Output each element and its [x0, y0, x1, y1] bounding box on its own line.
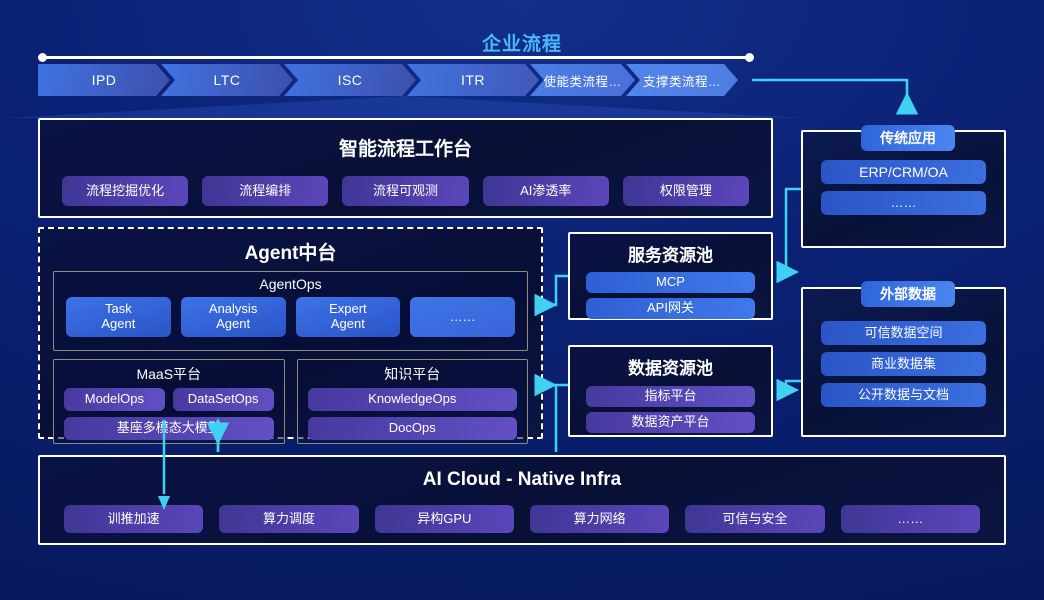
- connector-legacy-to-service-pool: [779, 189, 801, 272]
- agent-label-line1: Analysis: [209, 302, 257, 317]
- external-data-item-label: 可信数据空间: [864, 326, 942, 341]
- legacy-apps-title: 传统应用: [880, 128, 936, 148]
- process-step-supporting[interactable]: 支撑类流程…: [626, 64, 738, 96]
- maas-item-label: DataSetOps: [188, 392, 259, 407]
- service-pool-api-gateway[interactable]: API网关: [586, 298, 755, 319]
- workbench-item-process-observability[interactable]: 流程可观测: [342, 176, 468, 206]
- maas-title: MaaS平台: [54, 364, 284, 384]
- legacy-apps-item-label: ERP/CRM/OA: [859, 164, 948, 180]
- agent-label-line1: Task: [105, 302, 132, 317]
- process-step-ipd[interactable]: IPD: [38, 64, 170, 96]
- external-data-title: 外部数据: [880, 284, 936, 304]
- infra-item-heterogeneous-gpu[interactable]: 异构GPU: [375, 505, 514, 533]
- infra-item-label: ……: [897, 512, 923, 527]
- diagram-canvas: 企业流程 IPD LTC ISC ITR 使能类流程… 支撑类流程… 智能流程工…: [0, 0, 1044, 600]
- workbench-item-process-orchestration[interactable]: 流程编排: [202, 176, 328, 206]
- agent-analysis[interactable]: Analysis Agent: [181, 297, 286, 337]
- knowledge-knowledgeops[interactable]: KnowledgeOps: [308, 388, 518, 411]
- page-title: 企业流程: [0, 29, 1044, 56]
- external-data-trusted-space[interactable]: 可信数据空间: [821, 321, 986, 345]
- agent-label-line2: Agent: [216, 317, 250, 332]
- infra-item-label: 可信与安全: [722, 512, 787, 527]
- service-pool-panel: 服务资源池 MCP API网关: [568, 232, 773, 320]
- infra-item-more[interactable]: ……: [841, 505, 980, 533]
- external-data-item-label: 公开数据与文档: [858, 388, 949, 403]
- workbench-item-process-mining[interactable]: 流程挖掘优化: [62, 176, 188, 206]
- data-pool-item-label: 指标平台: [644, 389, 696, 404]
- knowledge-item-label: DocOps: [389, 421, 436, 436]
- data-pool-item-label: 数据资产平台: [631, 415, 709, 430]
- process-step-label: 使能类流程…: [543, 71, 621, 90]
- agentops-box: AgentOps Task Agent Analysis Agent Exper…: [53, 271, 528, 351]
- external-data-public-docs[interactable]: 公开数据与文档: [821, 383, 986, 407]
- legacy-apps-title-chip: 传统应用: [861, 125, 955, 151]
- knowledge-title: 知识平台: [298, 364, 528, 384]
- legacy-apps-more[interactable]: ……: [821, 191, 986, 215]
- infra-item-label: 训推加速: [108, 512, 160, 527]
- agent-expert[interactable]: Expert Agent: [296, 297, 401, 337]
- workbench-item-ai-penetration[interactable]: AI渗透率: [483, 176, 609, 206]
- process-step-isc[interactable]: ISC: [284, 64, 416, 96]
- workbench-item-label: 流程挖掘优化: [86, 184, 164, 199]
- workbench-item-label: 流程可观测: [373, 184, 438, 199]
- infra-panel: AI Cloud - Native Infra 训推加速 算力调度 异构GPU …: [38, 455, 1006, 545]
- agent-label-line2: Agent: [101, 317, 135, 332]
- process-step-ltc[interactable]: LTC: [161, 64, 293, 96]
- infra-item-trust-security[interactable]: 可信与安全: [685, 505, 824, 533]
- service-pool-mcp[interactable]: MCP: [586, 272, 755, 293]
- service-pool-item-label: MCP: [656, 275, 685, 290]
- process-rail-dot-left: [38, 53, 47, 62]
- external-data-panel: 可信数据空间 商业数据集 公开数据与文档: [801, 287, 1006, 437]
- infra-title: AI Cloud - Native Infra: [40, 469, 1004, 491]
- infra-item-compute-network[interactable]: 算力网络: [530, 505, 669, 533]
- external-data-title-chip: 外部数据: [861, 281, 955, 307]
- agent-platform-title: Agent中台: [40, 238, 541, 265]
- agent-label-line1: Expert: [329, 302, 367, 317]
- process-step-enabling[interactable]: 使能类流程…: [530, 64, 635, 96]
- knowledge-docops[interactable]: DocOps: [308, 417, 518, 440]
- infra-item-compute-scheduling[interactable]: 算力调度: [219, 505, 358, 533]
- process-step-label: ITR: [461, 72, 485, 88]
- infra-item-label: 算力网络: [574, 512, 626, 527]
- service-pool-title: 服务资源池: [570, 241, 771, 266]
- maas-modelops[interactable]: ModelOps: [64, 388, 165, 411]
- agent-more[interactable]: ……: [410, 297, 515, 337]
- connector-external-to-data-pool: [779, 381, 801, 390]
- infra-item-training-acceleration[interactable]: 训推加速: [64, 505, 203, 533]
- agent-label-line2: Agent: [331, 317, 365, 332]
- process-step-itr[interactable]: ITR: [407, 64, 539, 96]
- service-pool-item-label: API网关: [647, 301, 694, 316]
- process-chevron-bar: IPD LTC ISC ITR 使能类流程… 支撑类流程…: [38, 64, 750, 96]
- infra-item-label: 算力调度: [263, 512, 315, 527]
- agent-platform-panel: Agent中台 AgentOps Task Agent Analysis Age…: [38, 227, 543, 439]
- agent-label-line1: ……: [450, 310, 476, 325]
- knowledge-box: 知识平台 KnowledgeOps DocOps: [297, 359, 529, 444]
- data-pool-panel: 数据资源池 指标平台 数据资产平台: [568, 345, 773, 437]
- process-step-label: IPD: [92, 72, 117, 88]
- maas-item-label: 基座多模态大模型: [117, 421, 221, 436]
- maas-item-label: ModelOps: [85, 392, 144, 407]
- data-pool-title: 数据资源池: [570, 354, 771, 379]
- legacy-apps-erp[interactable]: ERP/CRM/OA: [821, 160, 986, 184]
- knowledge-item-label: KnowledgeOps: [368, 392, 456, 407]
- agent-task[interactable]: Task Agent: [66, 297, 171, 337]
- data-pool-asset-platform[interactable]: 数据资产平台: [586, 412, 755, 433]
- workbench-item-label: 流程编排: [239, 184, 291, 199]
- workbench-item-label: 权限管理: [660, 184, 712, 199]
- maas-foundation-model[interactable]: 基座多模态大模型: [64, 417, 274, 440]
- workbench-title: 智能流程工作台: [40, 134, 771, 161]
- maas-box: MaaS平台 ModelOps DataSetOps 基座多模态大模型: [53, 359, 285, 444]
- process-step-label: ISC: [338, 72, 363, 88]
- data-pool-metrics-platform[interactable]: 指标平台: [586, 386, 755, 407]
- process-rail: [44, 56, 750, 59]
- process-step-label: LTC: [214, 72, 241, 88]
- light-beam: [5, 96, 805, 118]
- infra-item-label: 异构GPU: [417, 512, 471, 527]
- workbench-item-label: AI渗透率: [520, 184, 571, 199]
- maas-datasetops[interactable]: DataSetOps: [173, 388, 274, 411]
- external-data-commercial-dataset[interactable]: 商业数据集: [821, 352, 986, 376]
- legacy-apps-item-label: ……: [891, 196, 917, 211]
- external-data-item-label: 商业数据集: [871, 357, 936, 372]
- agentops-title: AgentOps: [54, 276, 527, 292]
- process-step-label: 支撑类流程…: [643, 71, 721, 90]
- workbench-panel: 智能流程工作台 流程挖掘优化 流程编排 流程可观测 AI渗透率 权限管理: [38, 118, 773, 218]
- workbench-item-permission[interactable]: 权限管理: [623, 176, 749, 206]
- process-rail-dot-right: [745, 53, 754, 62]
